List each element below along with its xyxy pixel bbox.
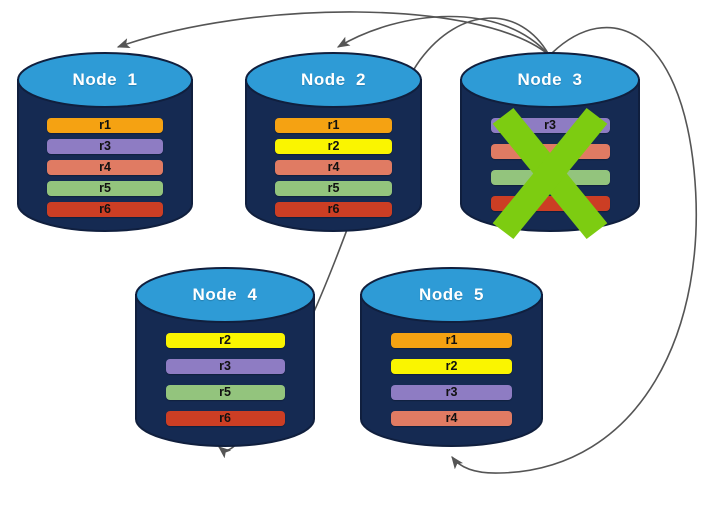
node-3[interactable]: Node 3r3: [460, 52, 640, 232]
node-2-record-r2[interactable]: r2: [275, 139, 392, 154]
node-1-record-r4[interactable]: r4: [47, 160, 163, 175]
node-4[interactable]: Node 4r2r3r5r6: [135, 267, 315, 447]
node-1-record-r3[interactable]: r3: [47, 139, 163, 154]
node-5-cylinder-top: [361, 268, 542, 322]
node-2-record-r1[interactable]: r1: [275, 118, 392, 133]
node-1[interactable]: Node 1r1r3r4r5r6: [17, 52, 193, 232]
node-4-cylinder-top: [136, 268, 314, 322]
node-3-record-r5[interactable]: [491, 170, 610, 185]
node-3-record-r4[interactable]: [491, 144, 610, 159]
node-2-record-r4[interactable]: r4: [275, 160, 392, 175]
node-3-record-r3[interactable]: r3: [491, 118, 610, 133]
node-5[interactable]: Node 5r1r2r3r4: [360, 267, 543, 447]
node-5-record-r1[interactable]: r1: [391, 333, 512, 348]
node-2-record-list: r1r2r4r5r6: [245, 118, 422, 223]
node-1-record-r1[interactable]: r1: [47, 118, 163, 133]
node-1-record-r5[interactable]: r5: [47, 181, 163, 196]
node-2-cylinder-top: [246, 53, 421, 107]
node-3-record-list: r3: [460, 118, 640, 222]
node-4-record-r2[interactable]: r2: [166, 333, 285, 348]
node-2-record-r6[interactable]: r6: [275, 202, 392, 217]
node-5-record-r3[interactable]: r3: [391, 385, 512, 400]
node-2-record-r5[interactable]: r5: [275, 181, 392, 196]
node-4-record-r6[interactable]: r6: [166, 411, 285, 426]
node-4-record-list: r2r3r5r6: [135, 333, 315, 437]
node-1-record-r6[interactable]: r6: [47, 202, 163, 217]
node-3-record-r6[interactable]: [491, 196, 610, 211]
node-2[interactable]: Node 2r1r2r4r5r6: [245, 52, 422, 232]
node-3-cylinder-top: [461, 53, 639, 107]
node-4-record-r3[interactable]: r3: [166, 359, 285, 374]
node-1-cylinder-top: [18, 53, 192, 107]
node-4-record-r5[interactable]: r5: [166, 385, 285, 400]
node-5-record-r2[interactable]: r2: [391, 359, 512, 374]
node-5-record-list: r1r2r3r4: [360, 333, 543, 437]
node-1-record-list: r1r3r4r5r6: [17, 118, 193, 223]
diagram-canvas: Node 1r1r3r4r5r6Node 2r1r2r4r5r6Node 3r3…: [0, 0, 708, 508]
node-5-record-r4[interactable]: r4: [391, 411, 512, 426]
